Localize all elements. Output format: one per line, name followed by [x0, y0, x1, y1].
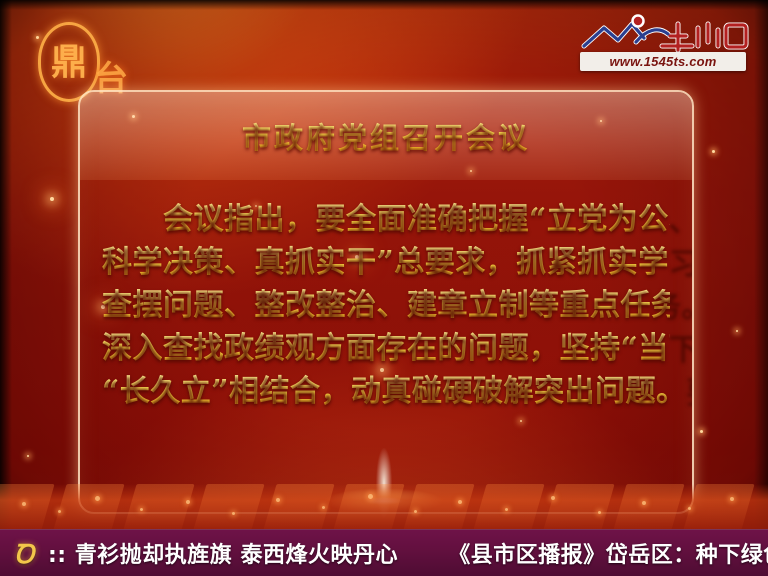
ticker-item-2: 《县市区播报》岱岳区：种下绿色树苗 传承 — [448, 543, 768, 568]
station-url-plate: www.1545ts.com — [580, 52, 746, 71]
news-body-line: 会议指出，要全面准确把握“立党为公、为民造福、 — [102, 198, 670, 241]
news-panel-body: 会议指出，要全面准确把握“立党为公、为民造福、 科学决策、真抓实干”总要求，抓紧… — [80, 180, 692, 512]
news-body-line: “长久立”相结合，动真碰硬破解突出问题。要把群 — [102, 370, 670, 413]
ticker-item-1: 青衫抛却执旌旗 泰西烽火映丹心 — [75, 543, 398, 568]
bokeh-light-strip — [0, 484, 768, 530]
station-logo: www.1545ts.com — [574, 12, 750, 74]
ticker-scroll-text: :: 青衫抛却执旌旗 泰西烽火映丹心 《县市区播报》岱岳区：种下绿色树苗 传承 — [48, 537, 768, 569]
news-panel: 市政府党组召开会议 会议指出，要全面准确把握“立党为公、为民造福、 科学决策、真… — [78, 90, 694, 514]
news-body-line: 深入查找政绩观方面存在的问题，坚持“当下改”和 — [102, 327, 670, 370]
news-ticker-bar[interactable]: Ꝺ :: 青衫抛却执旌旗 泰西烽火映丹心 《县市区播报》岱岳区：种下绿色树苗 传… — [0, 529, 768, 576]
news-title: 市政府党组召开会议 — [242, 115, 530, 157]
ticker-logo-glyph: Ꝺ — [14, 535, 34, 571]
broadcast-screen: 鼎 台 www.1545ts.com — [0, 0, 768, 576]
news-panel-header: 市政府党组召开会议 — [80, 92, 692, 180]
station-url-text: www.1545ts.com — [609, 54, 716, 69]
news-body-line: 科学决策、真抓实干”总要求，抓紧抓实学习研讨、 — [102, 241, 670, 284]
ticker-channel-logo: Ꝺ — [0, 530, 48, 576]
seal-glyph: 鼎 — [51, 44, 87, 80]
taishan-logo-icon — [574, 12, 750, 56]
background-top-shadow — [0, 0, 768, 10]
ticker-prefix: :: — [48, 543, 67, 568]
news-body-line: 查摆问题、整改整治、建章立制等重点任务。要全面 — [102, 284, 670, 327]
